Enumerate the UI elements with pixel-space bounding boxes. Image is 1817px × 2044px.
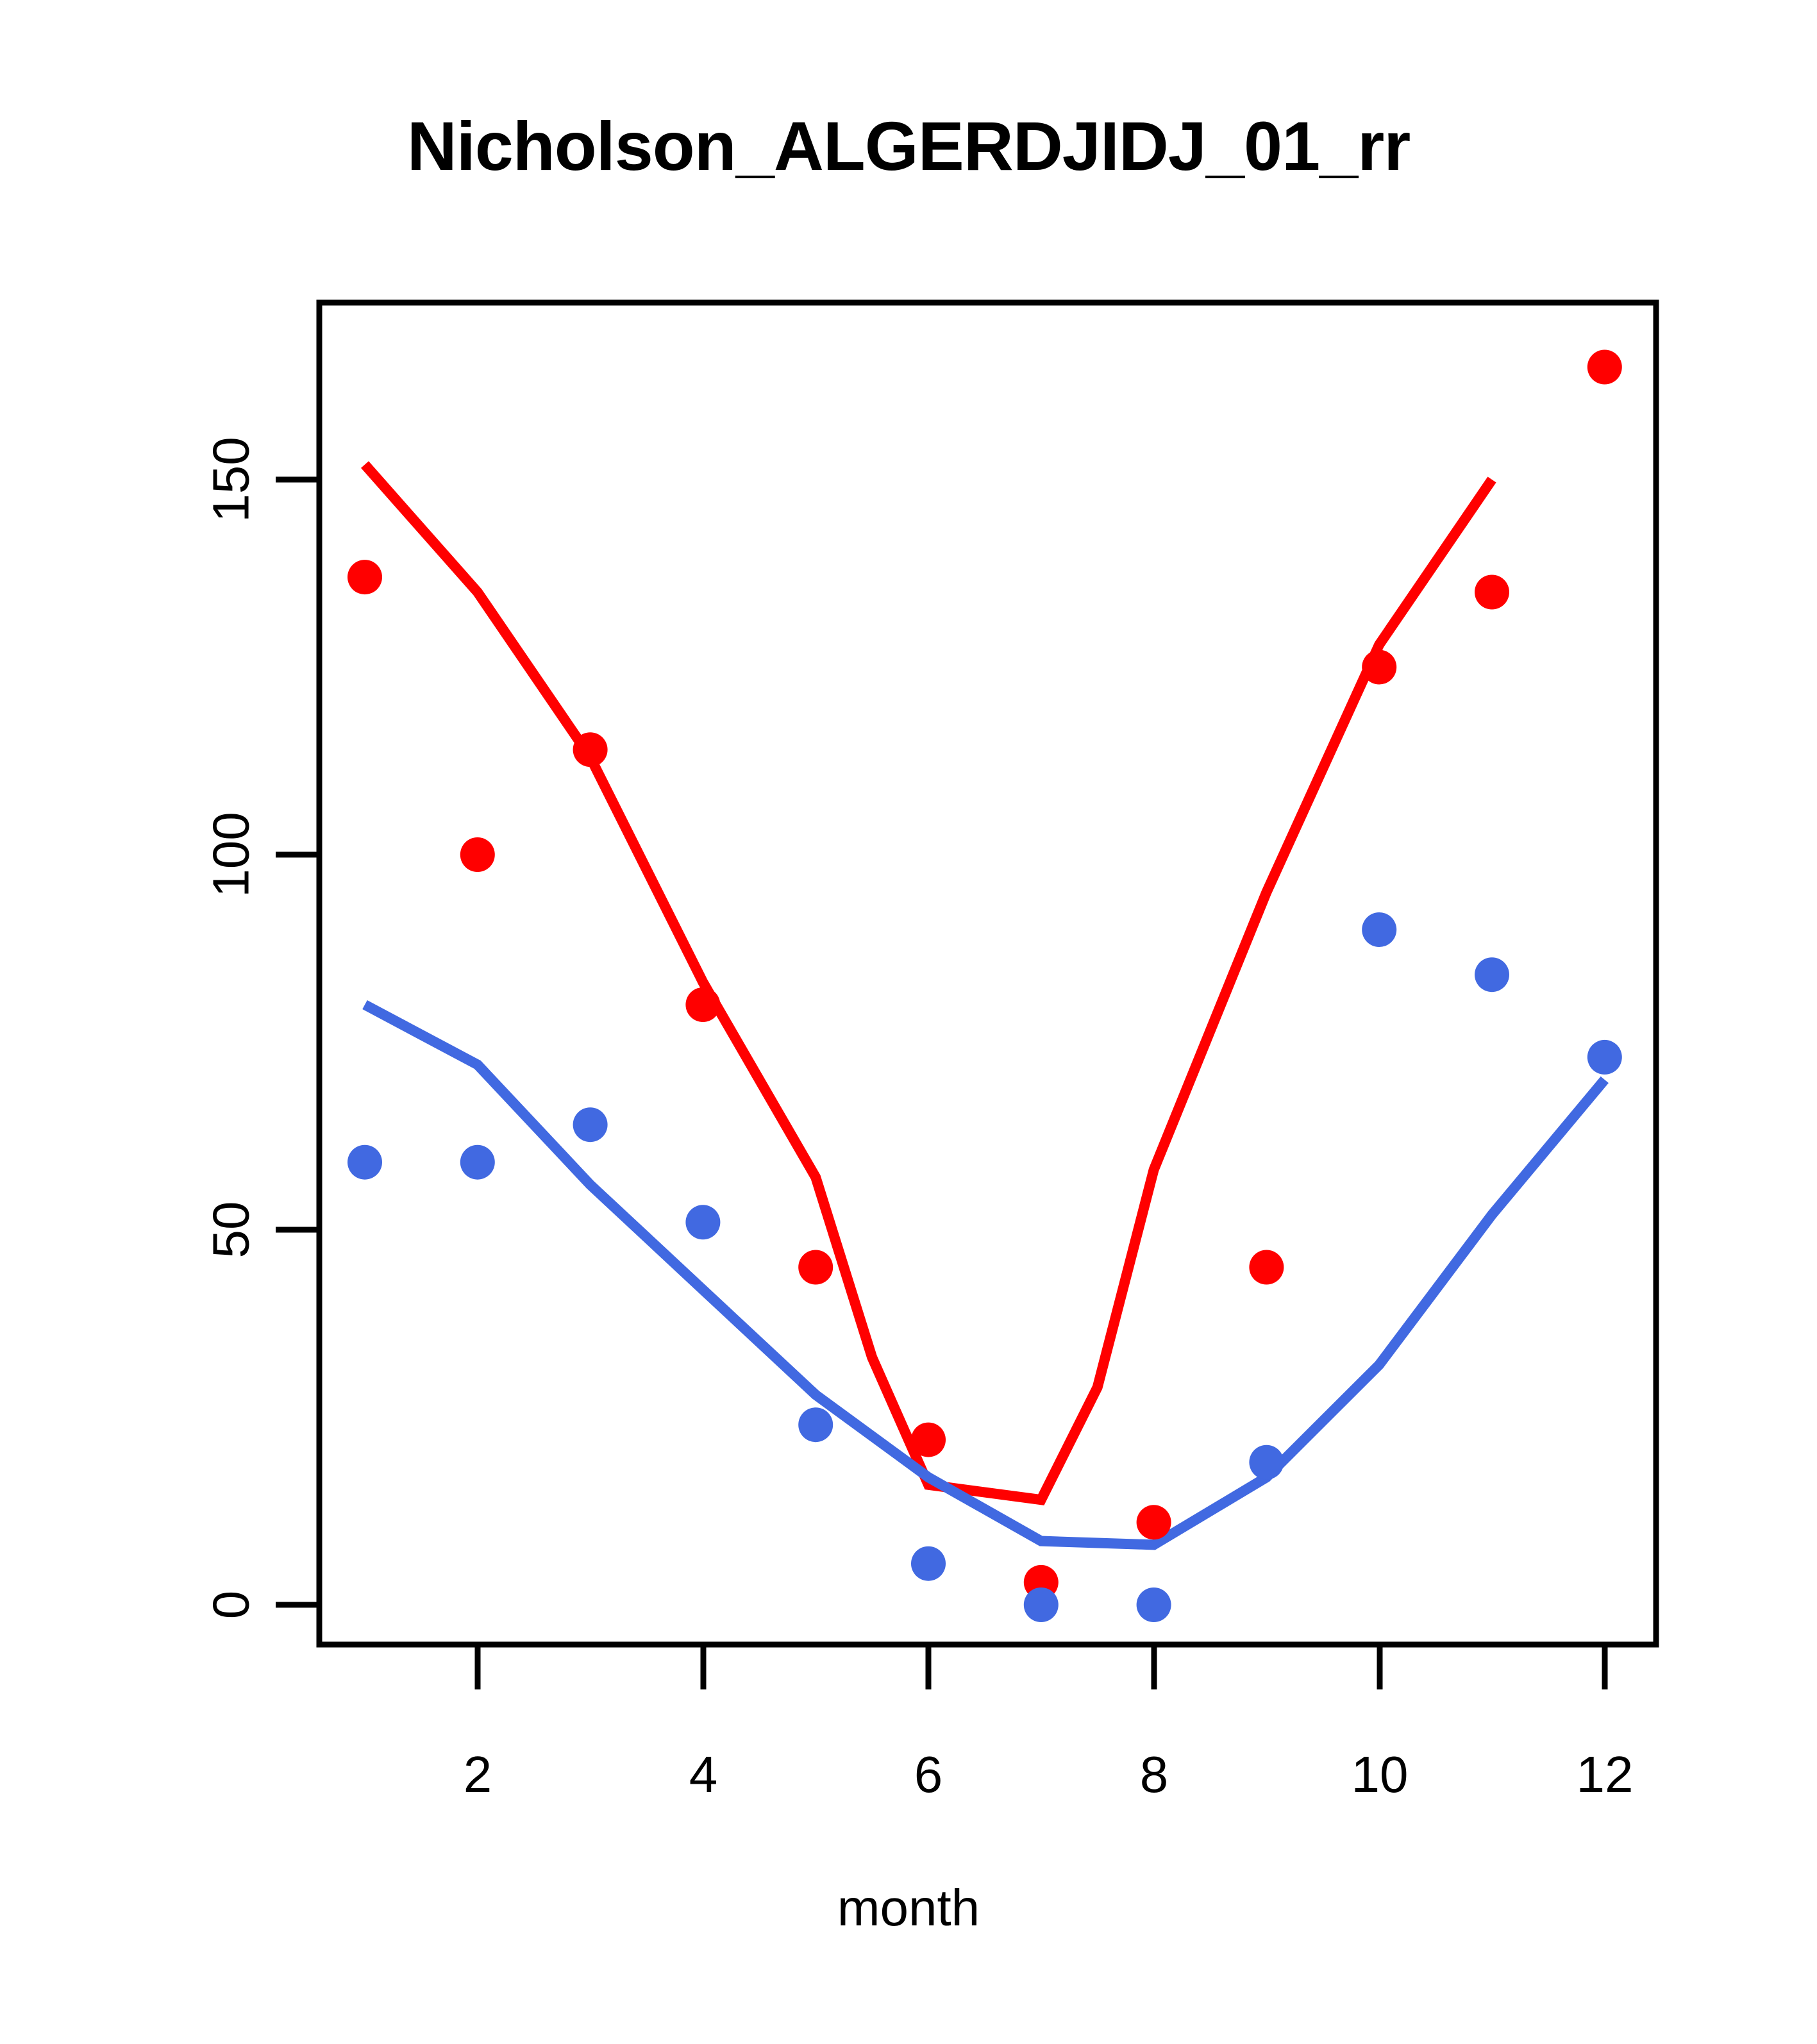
x-tick-label-8: 8 [1140, 1746, 1169, 1803]
data-point [911, 1546, 946, 1581]
data-point [1024, 1587, 1059, 1622]
data-point [347, 1145, 382, 1180]
x-axis-ticks [478, 1645, 1605, 1689]
x-axis-tick-labels: 2 4 6 8 10 12 [464, 1746, 1634, 1803]
data-point [685, 1205, 720, 1239]
data-point [460, 1145, 495, 1180]
x-axis-title: month [0, 1879, 1817, 1938]
plot-root: Nicholson_ALGERDJIDJ_01_rr 0 50 100 150 [0, 0, 1817, 2044]
series-layer [347, 350, 1622, 1623]
data-point [1249, 1250, 1284, 1285]
plot-box-frame [319, 303, 1656, 1645]
data-point [685, 987, 720, 1022]
data-point [573, 1107, 608, 1142]
chart-canvas: 0 50 100 150 2 4 6 8 10 12 [0, 0, 1817, 2044]
y-tick-label-50: 50 [203, 1202, 260, 1259]
y-tick-label-0: 0 [203, 1591, 260, 1620]
data-point [911, 1423, 946, 1457]
series-line-red-line [365, 465, 1492, 1500]
y-axis-ticks [276, 480, 319, 1605]
data-point [1362, 650, 1396, 685]
x-tick-label-4: 4 [689, 1746, 718, 1803]
data-point [460, 837, 495, 872]
y-axis-tick-labels: 0 50 100 150 [203, 437, 260, 1619]
data-point [798, 1250, 833, 1285]
data-point [347, 560, 382, 594]
data-point [1362, 912, 1396, 947]
data-point [1137, 1587, 1171, 1622]
y-tick-label-100: 100 [203, 812, 260, 897]
x-tick-label-10: 10 [1352, 1746, 1409, 1803]
series-points-blue-points [347, 912, 1622, 1622]
x-tick-label-12: 12 [1577, 1746, 1634, 1803]
series-line-blue-line [365, 1005, 1605, 1545]
data-point [1475, 575, 1509, 610]
series-points-red-points [347, 350, 1622, 1600]
data-point [1249, 1445, 1284, 1480]
x-tick-label-2: 2 [464, 1746, 492, 1803]
data-point [798, 1407, 833, 1442]
data-point [1137, 1505, 1171, 1539]
data-point [1475, 957, 1509, 992]
data-point [1587, 350, 1622, 385]
data-point [1587, 1040, 1622, 1075]
x-tick-label-6: 6 [914, 1746, 943, 1803]
y-tick-label-150: 150 [203, 437, 260, 522]
data-point [573, 732, 608, 767]
